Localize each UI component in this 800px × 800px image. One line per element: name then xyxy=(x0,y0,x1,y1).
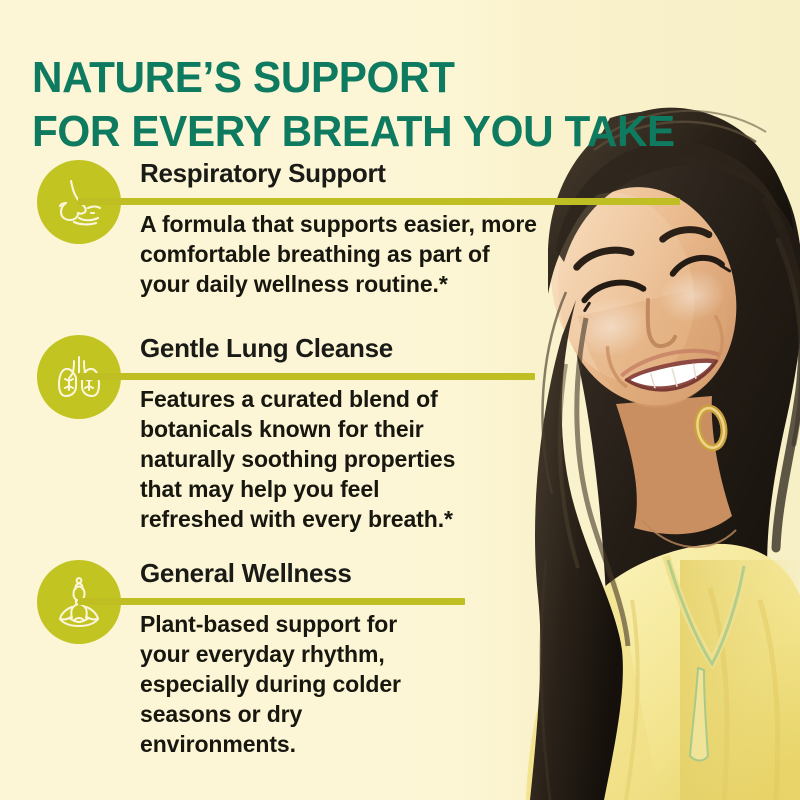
feature-divider-rule xyxy=(78,198,680,205)
feature-body-line: Features a curated blend of xyxy=(140,385,455,415)
feature-body-line: A formula that supports easier, more xyxy=(140,210,537,240)
feature-body-line: botanicals known for their xyxy=(140,415,455,445)
feature-body-line: Plant-based support for xyxy=(140,610,401,640)
promo-poster: NATURE’S SUPPORT FOR EVERY BREATH YOU TA… xyxy=(0,0,800,800)
page-title: NATURE’S SUPPORT FOR EVERY BREATH YOU TA… xyxy=(32,51,742,158)
feature-body-line: comfortable breathing as part of xyxy=(140,240,537,270)
feature-title: Respiratory Support xyxy=(140,158,386,189)
feature-body-line: especially during colder xyxy=(140,670,401,700)
feature-title: Gentle Lung Cleanse xyxy=(140,333,393,364)
feature-body-line: your daily wellness routine.* xyxy=(140,270,537,300)
feature-body-line: environments. xyxy=(140,730,401,760)
feature-body: Features a curated blend of botanicals k… xyxy=(140,385,455,534)
feature-body: Plant-based support for your everyday rh… xyxy=(140,610,401,759)
feature-title: General Wellness xyxy=(140,558,352,589)
feature-body-line: refreshed with every breath.* xyxy=(140,505,455,535)
headline-line-1: NATURE’S SUPPORT xyxy=(32,51,742,105)
feature-body-line: that may help you feel xyxy=(140,475,455,505)
feature-body-line: naturally soothing properties xyxy=(140,445,455,475)
headline-line-2: FOR EVERY BREATH YOU TAKE xyxy=(32,105,742,159)
feature-divider-rule xyxy=(78,598,465,605)
feature-body-line: your everyday rhythm, xyxy=(140,640,401,670)
feature-divider-rule xyxy=(78,373,535,380)
feature-body-line: seasons or dry xyxy=(140,700,401,730)
feature-body: A formula that supports easier, more com… xyxy=(140,210,537,300)
